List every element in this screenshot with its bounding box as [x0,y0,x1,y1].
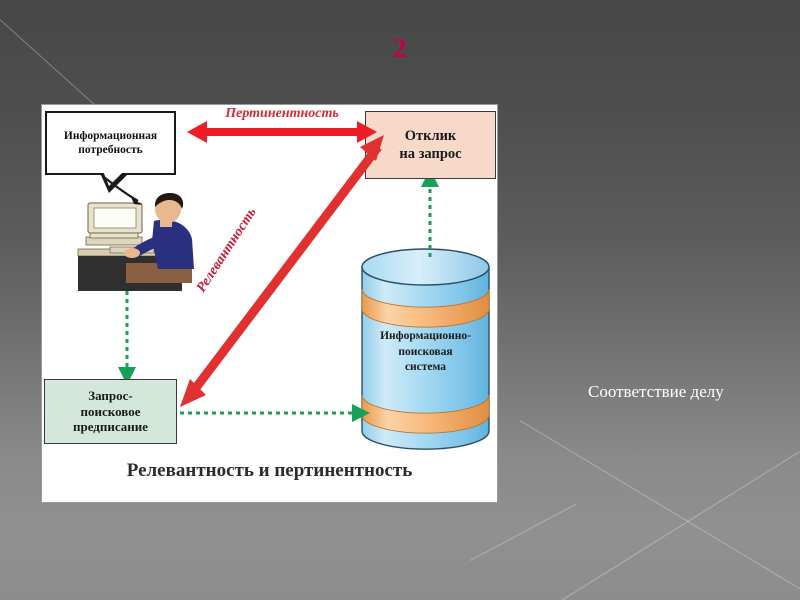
query-prescription-label-line3: предписание [73,419,148,435]
diagram-caption: Релевантность и пертинентность [42,460,497,482]
label-pertinence: Пертинентность [192,106,372,122]
query-prescription-label-line1: Запрос- [73,388,148,404]
bubble-pointer-line [104,177,142,207]
diagram-panel: Информационно- поисковая система [41,104,498,503]
side-caption-text: Соответствие делу [588,382,724,402]
query-prescription-label-line2: поисковое [73,404,148,420]
response-label-line1: Отклик [399,127,461,145]
decor-diagonal-line-bottom-right-a [519,420,800,600]
response-label-line2: на запрос [399,145,461,163]
query-prescription-box: Запрос- поисковое предписание [44,379,177,444]
arrow-system-to-response-icon [418,167,442,257]
slide-title: 2 [0,33,800,64]
slide: 2 Соответствие делу [0,0,800,600]
arrow-need-to-query-icon [114,283,140,387]
information-need-bubble: Информационная потребность [45,111,176,175]
information-need-label-line1: Информационная [64,129,157,143]
information-need-label-line2: потребность [64,143,157,157]
decor-diagonal-line-bottom-right-b [469,451,800,600]
decor-diagonal-line-bottom-left [470,504,576,561]
